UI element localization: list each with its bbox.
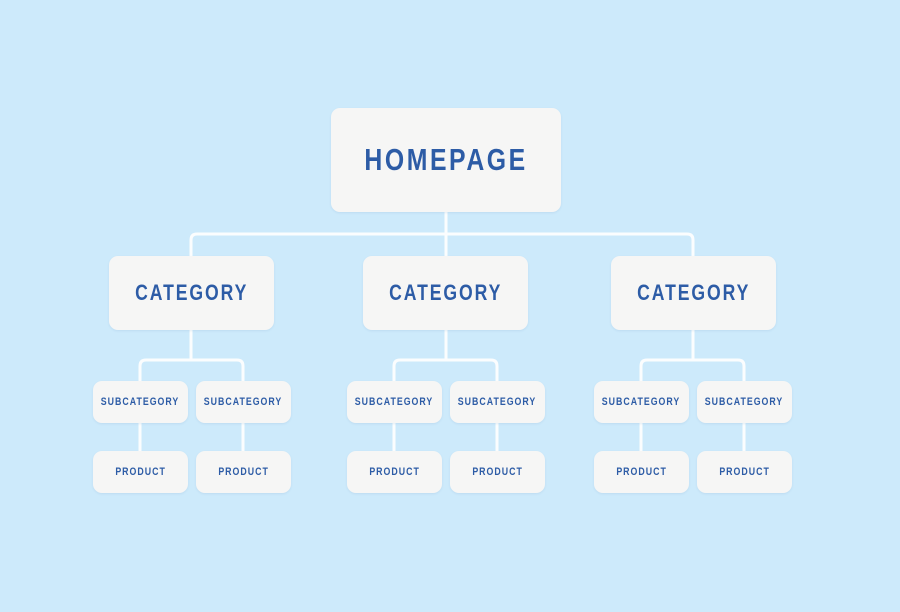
node-label-prod1b: PRODUCT xyxy=(218,466,269,478)
connector-cat2-bus xyxy=(394,360,497,381)
node-label-cat3: CATEGORY xyxy=(637,280,750,306)
node-cat2[interactable]: CATEGORY xyxy=(363,256,528,330)
sitemap-diagram-canvas: HOMEPAGECATEGORYCATEGORYCATEGORYSUBCATEG… xyxy=(0,0,900,612)
node-cat1[interactable]: CATEGORY xyxy=(109,256,274,330)
node-label-sub2b: SUBCATEGORY xyxy=(458,396,536,408)
node-prod2a[interactable]: PRODUCT xyxy=(347,451,442,493)
node-sub1a[interactable]: SUBCATEGORY xyxy=(93,381,188,423)
node-label-prod2b: PRODUCT xyxy=(472,466,523,478)
node-label-root: HOMEPAGE xyxy=(364,142,527,178)
node-label-prod1a: PRODUCT xyxy=(115,466,166,478)
node-prod3a[interactable]: PRODUCT xyxy=(594,451,689,493)
node-prod3b[interactable]: PRODUCT xyxy=(697,451,792,493)
connector-root-bus xyxy=(191,234,693,256)
node-label-sub1b: SUBCATEGORY xyxy=(204,396,282,408)
node-cat3[interactable]: CATEGORY xyxy=(611,256,776,330)
node-sub2a[interactable]: SUBCATEGORY xyxy=(347,381,442,423)
connector-cat3-bus xyxy=(641,360,744,381)
node-prod1b[interactable]: PRODUCT xyxy=(196,451,291,493)
node-sub2b[interactable]: SUBCATEGORY xyxy=(450,381,545,423)
node-prod1a[interactable]: PRODUCT xyxy=(93,451,188,493)
node-label-cat2: CATEGORY xyxy=(389,280,502,306)
node-sub3a[interactable]: SUBCATEGORY xyxy=(594,381,689,423)
node-label-sub3a: SUBCATEGORY xyxy=(602,396,680,408)
node-label-cat1: CATEGORY xyxy=(135,280,248,306)
node-label-sub1a: SUBCATEGORY xyxy=(101,396,179,408)
connector-cat1-bus xyxy=(140,360,243,381)
node-label-sub2a: SUBCATEGORY xyxy=(355,396,433,408)
node-sub1b[interactable]: SUBCATEGORY xyxy=(196,381,291,423)
node-label-prod3b: PRODUCT xyxy=(719,466,770,478)
node-prod2b[interactable]: PRODUCT xyxy=(450,451,545,493)
node-label-sub3b: SUBCATEGORY xyxy=(705,396,783,408)
node-sub3b[interactable]: SUBCATEGORY xyxy=(697,381,792,423)
node-root[interactable]: HOMEPAGE xyxy=(331,108,561,212)
node-label-prod3a: PRODUCT xyxy=(616,466,667,478)
node-label-prod2a: PRODUCT xyxy=(369,466,420,478)
